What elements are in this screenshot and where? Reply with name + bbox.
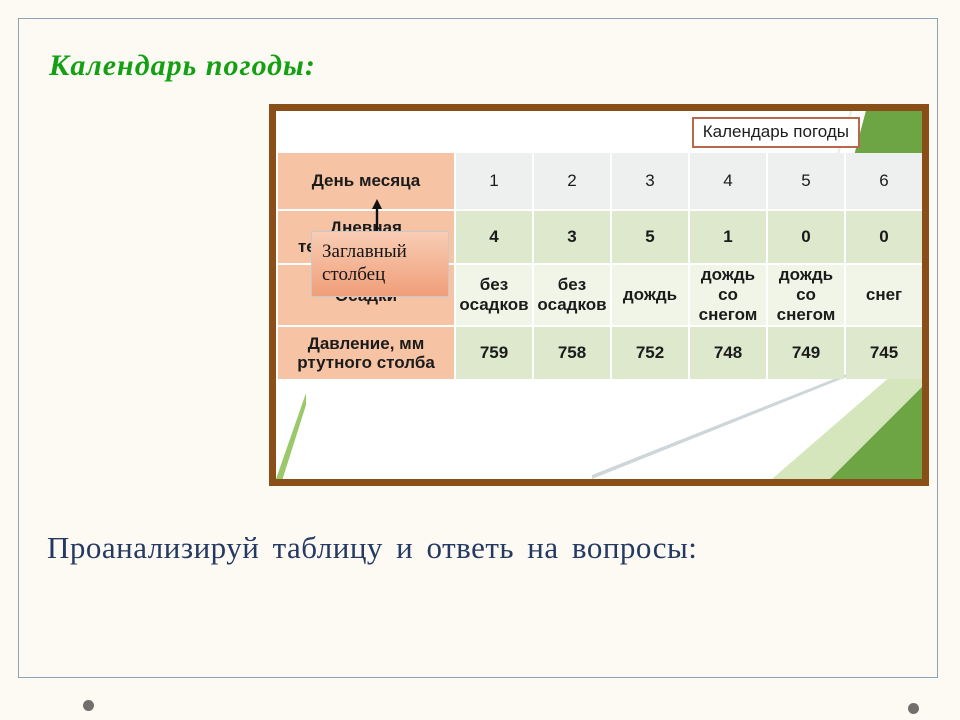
slide-frame: Календарь погоды: Календарь погоды День …: [18, 18, 938, 678]
cell-pres-2: 758: [534, 327, 610, 379]
cell-pres-3: 752: [612, 327, 688, 379]
cell-temp-6: 0: [846, 211, 922, 263]
cell-prec-4: дождь со снегом: [690, 265, 766, 325]
cell-day-6: 6: [846, 153, 922, 209]
callout-line2: столбец: [322, 264, 385, 285]
cell-prec-5: дождь со снегом: [768, 265, 844, 325]
cell-day-2: 2: [534, 153, 610, 209]
row-header-day: День месяца: [278, 153, 454, 209]
card-inner: Календарь погоды День месяца 1 2 3 4 5 6: [276, 111, 922, 479]
cell-pres-1: 759: [456, 327, 532, 379]
up-arrow-icon: [371, 199, 383, 233]
cell-day-5: 5: [768, 153, 844, 209]
row-header-day-line1: День месяца: [312, 171, 421, 190]
page-title: Календарь погоды:: [49, 49, 316, 83]
cell-pres-5: 749: [768, 327, 844, 379]
row-header-pressure-line1: Давление, мм: [308, 334, 425, 353]
cell-day-1: 1: [456, 153, 532, 209]
decorative-dot-left: [83, 700, 94, 711]
cell-prec-2: без осадков: [534, 265, 610, 325]
row-header-pressure-line2: ртутного столба: [297, 353, 435, 372]
cell-temp-2: 3: [534, 211, 610, 263]
header-column-callout: Заглавный столбец: [311, 231, 449, 297]
decorative-dot-right: [908, 703, 919, 714]
decorative-green-sliver-bottom-left: [276, 393, 306, 479]
cell-temp-1: 4: [456, 211, 532, 263]
row-header-pressure: Давление, мм ртутного столба: [278, 327, 454, 379]
cell-temp-4: 1: [690, 211, 766, 263]
cell-prec-6: снег: [846, 265, 922, 325]
cell-pres-4: 748: [690, 327, 766, 379]
cell-temp-3: 5: [612, 211, 688, 263]
cell-temp-5: 0: [768, 211, 844, 263]
cell-day-3: 3: [612, 153, 688, 209]
calendar-title-badge: Календарь погоды: [692, 117, 860, 148]
cell-day-4: 4: [690, 153, 766, 209]
weather-table-card: Календарь погоды День месяца 1 2 3 4 5 6: [269, 104, 929, 486]
decorative-green-triangle-bottom-right: [830, 387, 922, 479]
cell-prec-3: дождь: [612, 265, 688, 325]
callout-line1: Заглавный: [322, 241, 407, 262]
cell-prec-1: без осадков: [456, 265, 532, 325]
prompt-text: Проанализируй таблицу и ответь на вопрос…: [47, 530, 697, 566]
table-row-pressure: Давление, мм ртутного столба 759 758 752…: [278, 327, 922, 379]
cell-pres-6: 745: [846, 327, 922, 379]
